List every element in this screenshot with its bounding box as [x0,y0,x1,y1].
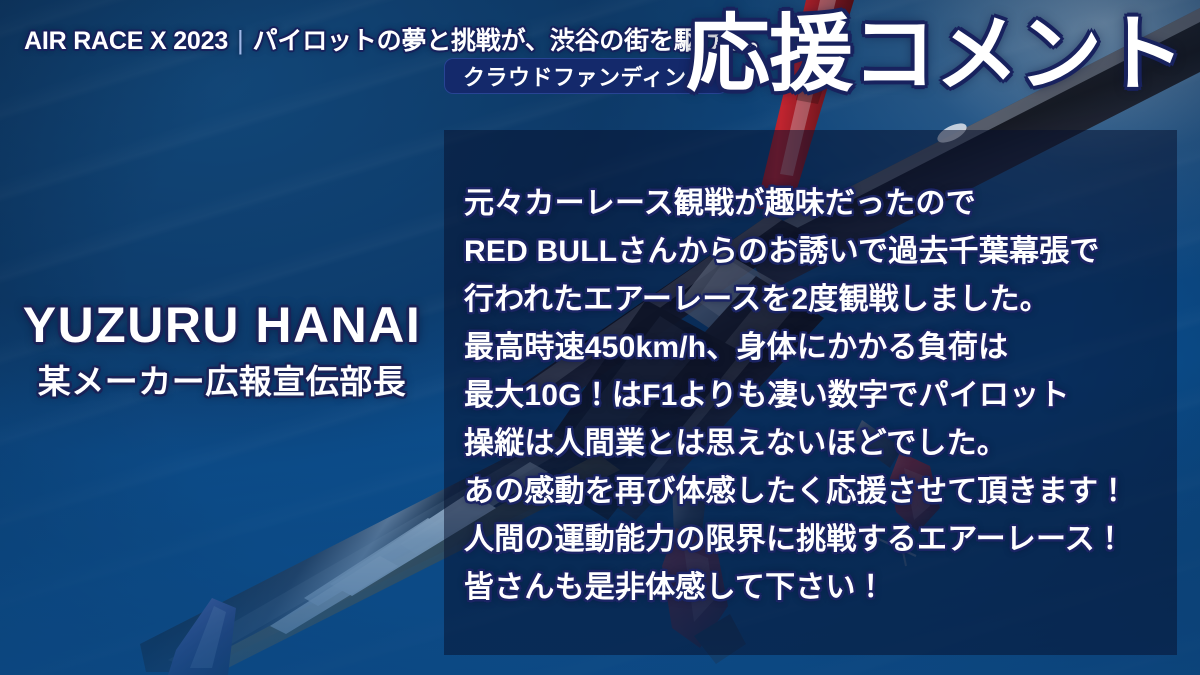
comment-line: 最高時速450km/h、身体にかかる負荷は [464,324,1184,372]
comment-body: 元々カーレース観戦が趣味だったので RED BULLさんからのお誘いで過去千葉幕… [464,180,1184,612]
comment-line: 元々カーレース観戦が趣味だったので [464,180,1184,228]
comment-line: 行われたエアーレースを2度観戦しました。 [464,276,1184,324]
event-brand: AIR RACE X 2023 [24,27,228,56]
supporter-title: 某メーカー広報宣伝部長 [0,362,444,402]
page-title: 応援コメント [686,6,1184,102]
header-separator: | [237,25,244,56]
comment-line: あの感動を再び体感したく応援させて頂きます！ [464,468,1184,516]
header-tagline-row: AIR RACE X 2023 | パイロットの夢と挑戦が、渋谷の街を駆ける。 [24,21,773,57]
comment-line: 人間の運動能力の限界に挑戦するエアーレース！ [464,516,1184,564]
comment-line: RED BULLさんからのお誘いで過去千葉幕張で [464,228,1184,276]
supporter-name: YUZURU HANAI [0,296,444,354]
comment-line: 皆さんも是非体感して下さい！ [464,564,1184,612]
comment-line: 操縦は人間業とは思えないほどでした。 [464,420,1184,468]
comment-line: 最大10G！はF1よりも凄い数字でパイロット [464,372,1184,420]
slide-canvas: AIR RACE X 2023 | パイロットの夢と挑戦が、渋谷の街を駆ける。 … [0,0,1200,675]
supporter-identity: YUZURU HANAI 某メーカー広報宣伝部長 [0,296,444,402]
